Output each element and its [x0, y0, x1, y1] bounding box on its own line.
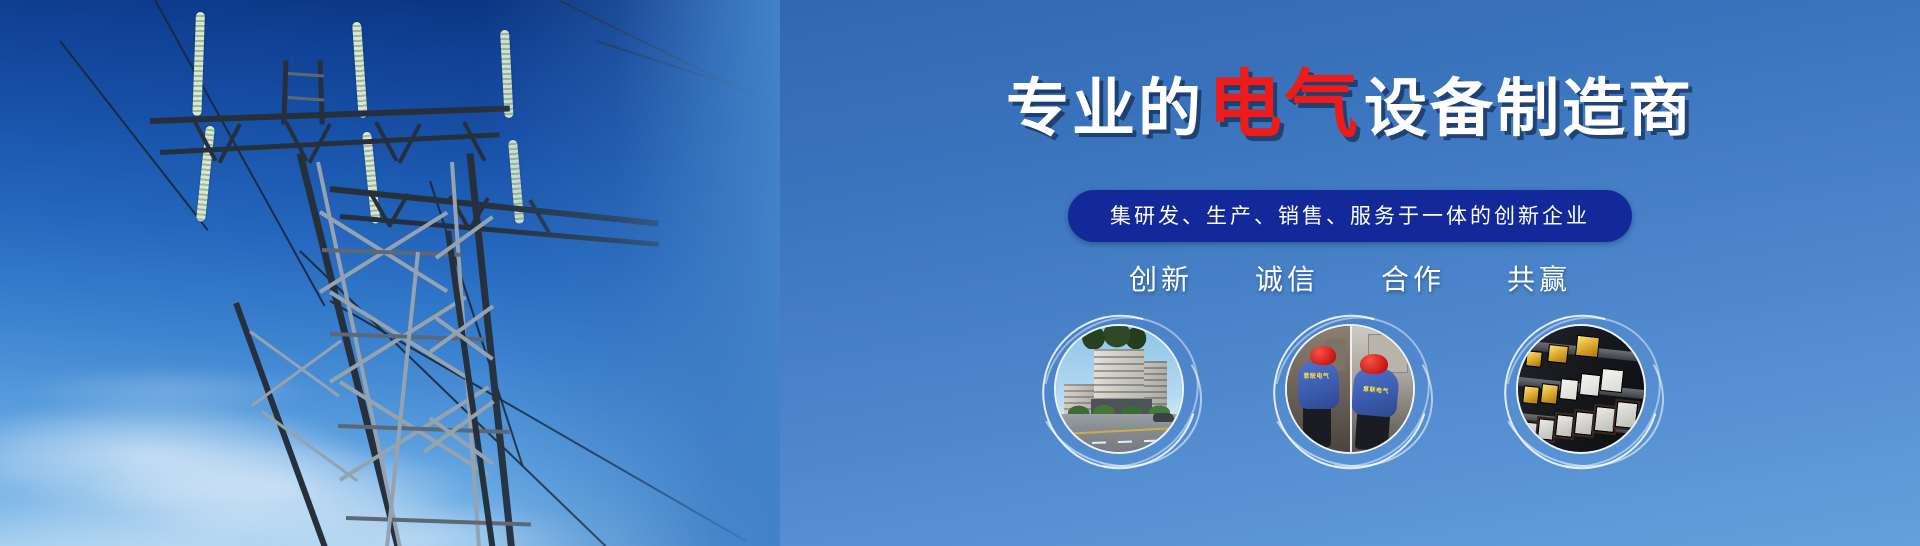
office-building-image — [1056, 326, 1182, 452]
uniform-logo-text: 意联电气 — [1303, 371, 1329, 380]
keyword-item: 诚信 — [1255, 258, 1319, 298]
headline-part-1: 专业的 — [1006, 74, 1204, 144]
headline-highlight: 电气 — [1208, 63, 1360, 146]
hero-banner: 专业的电气设备制造商 集研发、生产、销售、服务于一体的创新企业 创新 诚信 合作… — [0, 0, 1920, 546]
keyword-item: 共赢 — [1507, 258, 1571, 298]
photo-blend-gradient — [480, 0, 780, 546]
keyword-item: 合作 — [1381, 258, 1445, 298]
banner-content: 专业的电气设备制造商 集研发、生产、销售、服务于一体的创新企业 创新 诚信 合作… — [780, 0, 1920, 546]
banner-headline: 专业的电气设备制造商 — [780, 68, 1920, 142]
circular-photo-row: 公司办公大楼外景 意联 — [780, 326, 1920, 452]
workers-image: 意联电气 意联电气 — [1287, 326, 1413, 452]
keyword-list: 创新 诚信 合作 共赢 — [780, 258, 1920, 298]
tagline-pill: 集研发、生产、销售、服务于一体的创新企业 — [1068, 190, 1632, 242]
keyword-item: 创新 — [1129, 258, 1193, 298]
certificate-wall-image — [1518, 326, 1644, 452]
tagline-text: 集研发、生产、销售、服务于一体的创新企业 — [1110, 205, 1590, 228]
transmission-tower-photo — [0, 0, 780, 546]
headline-part-2: 设备制造商 — [1364, 74, 1694, 144]
circle-photo-certificate-wall: 荣誉证书展示墙 — [1518, 326, 1644, 452]
circle-photo-office-building: 公司办公大楼外景 — [1056, 326, 1182, 452]
circle-photo-workers: 意联电气 意联电气 身着蓝色工装、佩戴红色安全帽的工人安装调试电气柜 — [1287, 326, 1413, 452]
